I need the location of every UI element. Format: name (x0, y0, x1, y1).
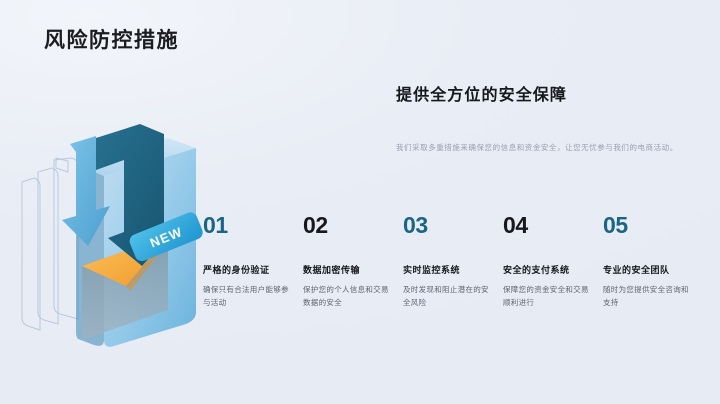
security-illustration: NEW (18, 60, 228, 360)
item-description: 随时为您提供安全咨询和支持 (603, 283, 689, 309)
item-number: 02 (303, 214, 403, 237)
slide-canvas: 风险防控措施 (0, 0, 720, 404)
item-number: 05 (603, 214, 703, 237)
page-title: 风险防控措施 (44, 30, 179, 51)
item-title: 严格的身份验证 (203, 266, 303, 275)
list-item[interactable]: 05 专业的安全团队 随时为您提供安全咨询和支持 (603, 214, 703, 334)
item-number: 03 (403, 214, 503, 237)
list-item[interactable]: 02 数据加密传输 保护您的个人信息和交易数据的安全 (303, 214, 403, 334)
layered-cards-icon (22, 158, 78, 330)
item-description: 及时发现和阻止潜在的安全风险 (403, 283, 489, 309)
item-description: 保障您的资金安全和交易顺利进行 (503, 283, 589, 309)
list-item[interactable]: 01 严格的身份验证 确保只有合法用户能够参与活动 (203, 214, 303, 334)
item-title: 专业的安全团队 (603, 266, 703, 275)
list-item[interactable]: 03 实时监控系统 及时发现和阻止潜在的安全风险 (403, 214, 503, 334)
section-subcopy: 我们采取多重措施来确保您的信息和资金安全，让您无忧参与我们的电商活动。 (396, 140, 688, 155)
item-number: 01 (203, 214, 303, 237)
item-title: 数据加密传输 (303, 266, 403, 275)
item-description: 确保只有合法用户能够参与活动 (203, 283, 289, 309)
item-title: 安全的支付系统 (503, 266, 603, 275)
measures-list: 01 严格的身份验证 确保只有合法用户能够参与活动 02 数据加密传输 保护您的… (203, 214, 703, 334)
section-headline: 提供全方位的安全保障 (396, 86, 567, 105)
item-description: 保护您的个人信息和交易数据的安全 (303, 283, 389, 309)
item-title: 实时监控系统 (403, 266, 503, 275)
list-item[interactable]: 04 安全的支付系统 保障您的资金安全和交易顺利进行 (503, 214, 603, 334)
item-number: 04 (503, 214, 603, 237)
